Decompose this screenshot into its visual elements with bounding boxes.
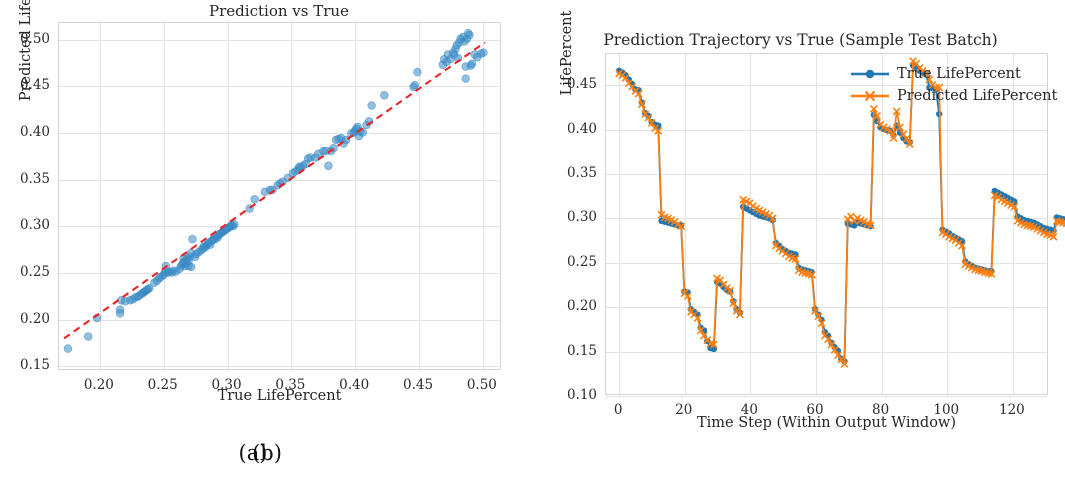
legend-label-predicted: Predicted LifePercent <box>897 88 1057 104</box>
panel-b-yaxis-label: LifePercent <box>559 0 575 224</box>
legend-line-true-icon <box>850 66 890 82</box>
panel-b-title: Prediction Trajectory vs True (Sample Te… <box>543 31 1058 49</box>
panel-b-ytick: 0.20 <box>533 298 597 314</box>
figure-container: Prediction vs True 0.150.200.250.300.350… <box>0 0 1065 483</box>
panel-a-ytick: 0.15 <box>0 357 50 373</box>
panel-b-ytick: 0.15 <box>533 343 597 359</box>
legend-label-true: True LifePercent <box>897 66 1021 82</box>
panel-b-trajectory: Prediction Trajectory vs True (Sample Te… <box>533 0 1065 483</box>
panel-b-legend: True LifePercent Predicted LifePercent <box>846 62 1061 107</box>
gridline-horizontal <box>606 396 1047 397</box>
panel-a-scatter: Prediction vs True 0.150.200.250.300.350… <box>0 0 533 483</box>
panel-a-ytick: 0.25 <box>0 264 50 280</box>
panel-a-xaxis-label: True LifePercent <box>58 388 501 404</box>
scatter-points <box>64 29 487 352</box>
panel-b-xaxis-label: Time Step (Within Output Window) <box>605 415 1048 431</box>
subcaption-b: (b) <box>252 441 282 465</box>
panel-a-yaxis-label: Predicted LifePercent <box>18 0 34 196</box>
panel-a-axes <box>58 22 501 370</box>
legend-item-predicted: Predicted LifePercent <box>850 86 1057 105</box>
legend-line-predicted-icon <box>850 88 890 104</box>
panel-b-axes: True LifePercent Predicted LifePercent <box>605 53 1048 395</box>
series-true-lifepercent <box>616 62 1065 364</box>
reference-line <box>64 42 485 338</box>
legend-item-true: True LifePercent <box>850 64 1057 83</box>
panel-a-ytick: 0.20 <box>0 311 50 327</box>
panel-b-ytick: 0.25 <box>533 254 597 270</box>
panel-a-plot-area <box>59 23 500 369</box>
panel-a-title: Prediction vs True <box>58 2 500 20</box>
panel-a-ytick: 0.30 <box>0 217 50 233</box>
panel-b-ytick: 0.10 <box>533 387 597 403</box>
